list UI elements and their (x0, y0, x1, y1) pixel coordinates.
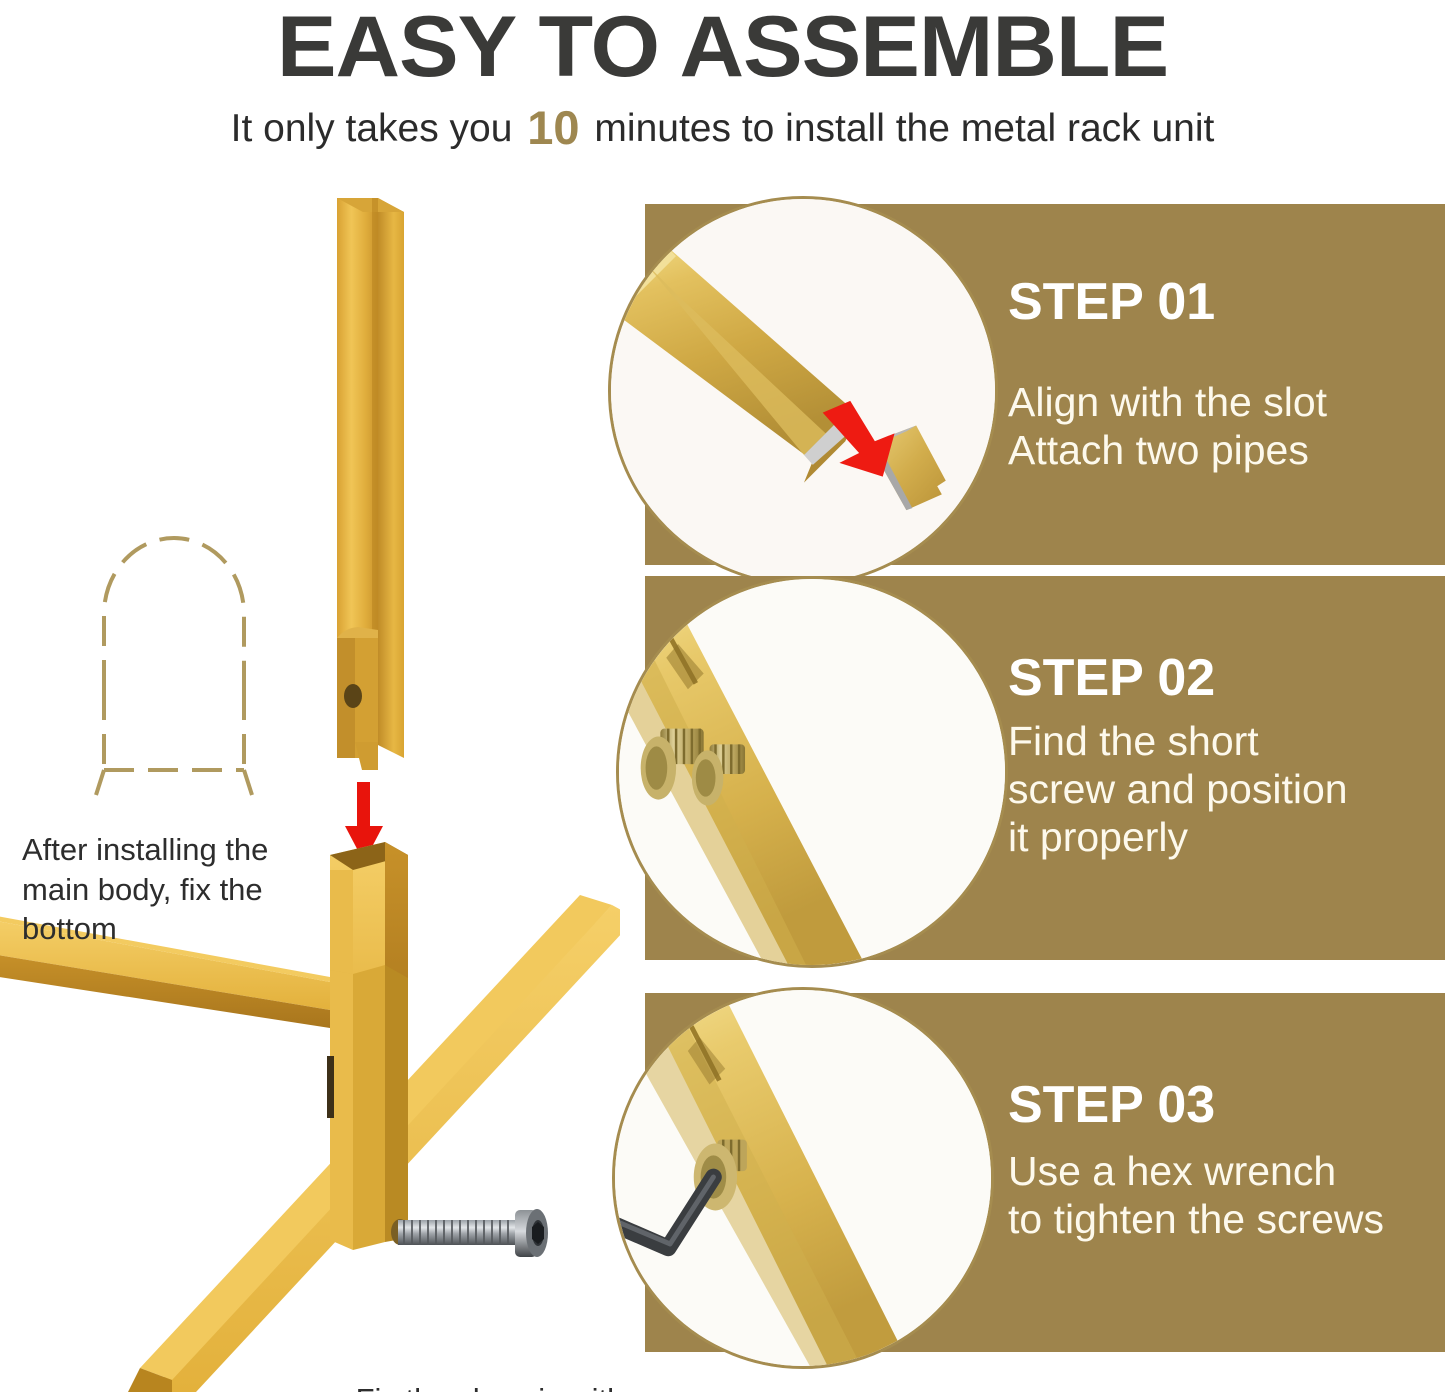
page-subtitle: It only takes you 10 minutes to install … (0, 104, 1445, 151)
arch-outline-diagram (104, 538, 244, 770)
subtitle-after: minutes to install the metal rack unit (594, 107, 1214, 150)
base-socket-post-front (327, 965, 408, 1250)
hex-wrench-photo (615, 990, 991, 1366)
step-2-body: Find the short screw and position it pro… (1008, 718, 1348, 862)
subtitle-minutes-number: 10 (523, 101, 583, 154)
step-panel-1: STEP 01 Align with the slot Attach two p… (645, 204, 1445, 565)
step-2-body-line-3: it properly (1008, 814, 1348, 862)
step-1-body-line-2: Attach two pipes (1008, 427, 1327, 475)
short-screws-photo (619, 579, 1005, 965)
step-panel-3: STEP 03 Use a hex wrench to tighten the … (645, 993, 1445, 1352)
long-screw (391, 1209, 548, 1257)
step-3-body: Use a hex wrench to tighten the screws (1008, 1148, 1384, 1244)
step-1-text-block: STEP 01 Align with the slot Attach two p… (1008, 204, 1435, 565)
two-pipes-align-photo (611, 199, 995, 583)
header-block: EASY TO ASSEMBLE It only takes you 10 mi… (0, 0, 1445, 190)
step-1-body: Align with the slot Attach two pipes (1008, 379, 1327, 475)
step-2-photo-bubble (616, 576, 1008, 968)
assembly-illustration: After installing the main body, fix the … (0, 190, 620, 1392)
step-panel-2: STEP 02 Find the short screw and positio… (645, 576, 1445, 960)
step-2-title: STEP 02 (1008, 648, 1215, 708)
step-3-text-block: STEP 03 Use a hex wrench to tighten the … (1008, 993, 1435, 1352)
step-2-body-line-2: screw and position (1008, 766, 1348, 814)
arch-feet (96, 770, 252, 795)
step-3-photo-bubble (612, 987, 994, 1369)
chassis-caption: Fix the chassis with long screws (340, 1380, 620, 1392)
step-1-photo-bubble (608, 196, 998, 586)
step-2-text-block: STEP 02 Find the short screw and positio… (1008, 576, 1435, 960)
step-3-body-line-2: to tighten the screws (1008, 1196, 1384, 1244)
step-3-title: STEP 03 (1008, 1075, 1215, 1135)
step-2-body-line-1: Find the short (1008, 718, 1348, 766)
subtitle-before: It only takes you (231, 107, 513, 150)
upright-pipe (337, 198, 404, 770)
step-1-body-line-1: Align with the slot (1008, 379, 1327, 427)
step-1-title: STEP 01 (1008, 272, 1215, 332)
page-title: EASY TO ASSEMBLE (0, 0, 1445, 97)
step-3-body-line-1: Use a hex wrench (1008, 1148, 1384, 1196)
arch-caption: After installing the main body, fix the … (22, 830, 312, 949)
